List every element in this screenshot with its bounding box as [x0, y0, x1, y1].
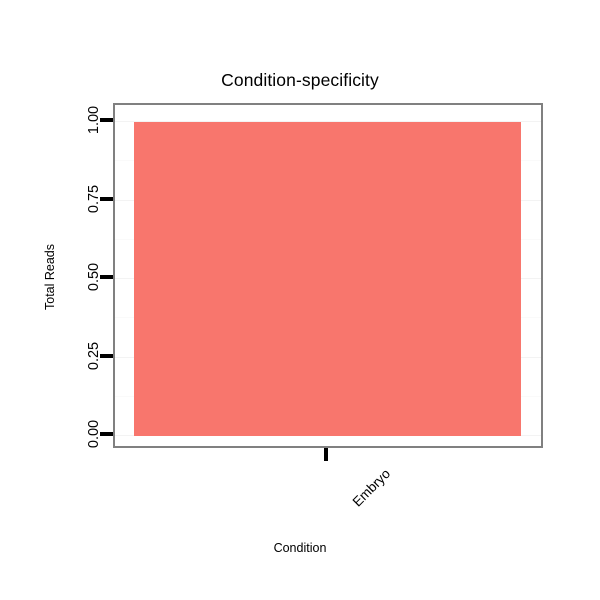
y-axis-tick-label: 1.00	[86, 106, 102, 134]
x-axis-title: Condition	[0, 541, 600, 555]
chart-canvas: Condition-specificity Total Reads 0.000.…	[0, 0, 600, 600]
y-axis-tick-label: 0.25	[86, 341, 102, 369]
y-axis-title: Total Reads	[43, 244, 57, 310]
chart-title: Condition-specificity	[0, 70, 600, 91]
x-axis-tick-mark	[324, 448, 328, 461]
y-axis-tick-label: 0.75	[86, 184, 102, 212]
plot-area	[115, 105, 541, 446]
x-axis-tick-label: Embryo	[349, 466, 392, 509]
y-axis-tick-label: 0.00	[86, 420, 102, 448]
plot-panel	[113, 103, 543, 448]
bar[interactable]	[134, 122, 521, 436]
y-axis-tick-label: 0.50	[86, 263, 102, 291]
